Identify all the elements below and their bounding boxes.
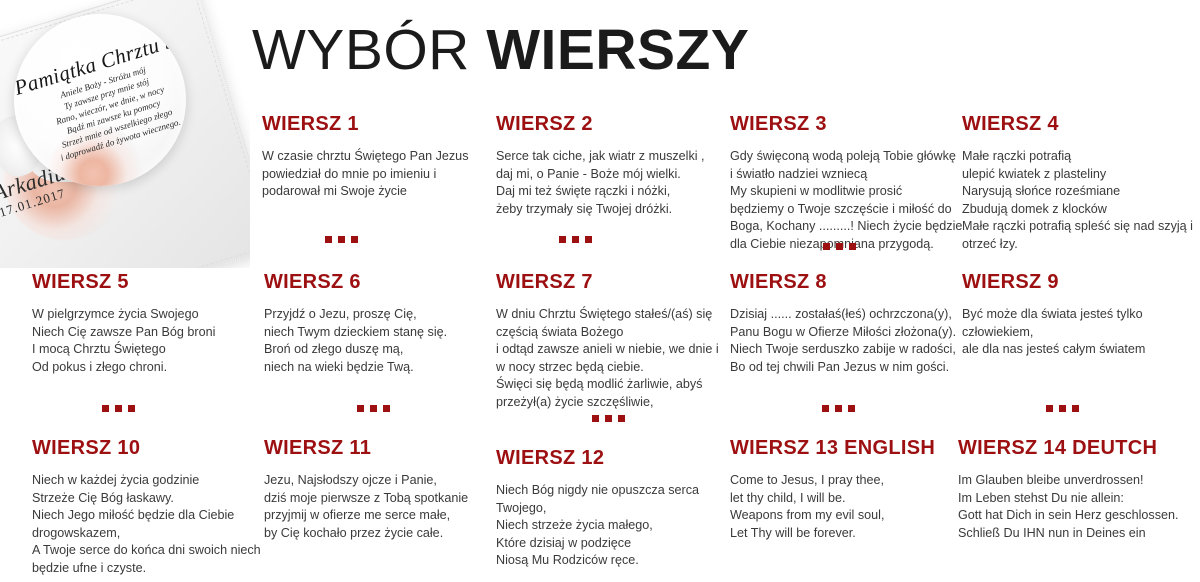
dot-separator — [1046, 405, 1079, 412]
poem-title: WIERSZ 1 — [262, 112, 490, 136]
poem-body: Niech w każdej życia godzinie Strzeże Ci… — [32, 472, 264, 578]
poem-body: W pielgrzymce życia Swojego Niech Cię za… — [32, 306, 260, 376]
poem-title: WIERSZ 14 DEUTCH — [958, 436, 1200, 460]
lens-content: Pamiątka Chrztu Świętego Aniele Boży - S… — [14, 14, 186, 186]
poem-title: WIERSZ 11 — [264, 436, 496, 460]
poem-card-10[interactable]: WIERSZ 10 Niech w każdej życia godzinie … — [32, 436, 264, 578]
poem-body: Gdy święconą wodą poleją Tobie główkę i … — [730, 148, 970, 254]
poem-card-9[interactable]: WIERSZ 9 Być może dla świata jesteś tylk… — [962, 270, 1200, 359]
poem-body: Serce tak ciche, jak wiatr z muszelki , … — [496, 148, 724, 218]
dot-separator — [823, 243, 856, 250]
poem-body: Jezu, Najsłodszy ojcze i Panie, dziś moj… — [264, 472, 496, 542]
poem-title: WIERSZ 2 — [496, 112, 724, 136]
poem-title: WIERSZ 3 — [730, 112, 970, 136]
poem-card-14[interactable]: WIERSZ 14 DEUTCH Im Glauben bleibe unver… — [958, 436, 1200, 542]
poem-card-8[interactable]: WIERSZ 8 Dzisiaj ...... zostałaś(łeś) oc… — [730, 270, 962, 376]
dot-separator — [592, 415, 625, 422]
poem-body: Małe rączki potrafią ulepić kwiatek z pl… — [962, 148, 1200, 254]
poem-body: Come to Jesus, I pray thee, let thy chil… — [730, 472, 962, 542]
poem-card-5[interactable]: WIERSZ 5 W pielgrzymce życia Swojego Nie… — [32, 270, 260, 376]
dot-separator — [102, 405, 135, 412]
poem-body: Być może dla świata jesteś tylko człowie… — [962, 306, 1200, 359]
magnifier-lens-icon: Pamiątka Chrztu Świętego Aniele Boży - S… — [14, 14, 186, 186]
poem-body: Przyjdź o Jezu, proszę Cię, niech Twym d… — [264, 306, 492, 376]
poem-title: WIERSZ 4 — [962, 112, 1200, 136]
poem-selection-page: WYBÓR WIERSZY Arkadiusz 17.01.2017 Pamią… — [0, 0, 1200, 582]
poem-card-4[interactable]: WIERSZ 4 Małe rączki potrafią ulepić kwi… — [962, 112, 1200, 254]
poem-card-13[interactable]: WIERSZ 13 ENGLISH Come to Jesus, I pray … — [730, 436, 962, 542]
poem-body: W dniu Chrztu Świętego stałeś/(aś) się c… — [496, 306, 728, 412]
poem-card-7[interactable]: WIERSZ 7 W dniu Chrztu Świętego stałeś/(… — [496, 270, 728, 412]
poem-title: WIERSZ 10 — [32, 436, 264, 460]
poem-title: WIERSZ 5 — [32, 270, 260, 294]
dot-separator — [822, 405, 855, 412]
poem-card-3[interactable]: WIERSZ 3 Gdy święconą wodą poleją Tobie … — [730, 112, 970, 254]
poem-card-1[interactable]: WIERSZ 1 W czasie chrztu Świętego Pan Je… — [262, 112, 490, 201]
dot-separator — [325, 236, 358, 243]
poem-body: Niech Bóg nigdy nie opuszcza serca Twoje… — [496, 482, 728, 570]
poem-title: WIERSZ 12 — [496, 446, 728, 470]
dot-separator — [559, 236, 592, 243]
poem-body: W czasie chrztu Świętego Pan Jezus powie… — [262, 148, 490, 201]
page-title: WYBÓR WIERSZY — [252, 14, 749, 86]
poem-title: WIERSZ 8 — [730, 270, 962, 294]
poem-body: Dzisiaj ...... zostałaś(łeś) ochrzczona(… — [730, 306, 962, 376]
poem-title: WIERSZ 9 — [962, 270, 1200, 294]
poem-card-6[interactable]: WIERSZ 6 Przyjdź o Jezu, proszę Cię, nie… — [264, 270, 492, 376]
poem-body: Im Glauben bleibe unverdrossen! Im Leben… — [958, 472, 1200, 542]
poem-card-11[interactable]: WIERSZ 11 Jezu, Najsłodszy ojcze i Panie… — [264, 436, 496, 542]
poem-card-12[interactable]: WIERSZ 12 Niech Bóg nigdy nie opuszcza s… — [496, 446, 728, 570]
poem-title: WIERSZ 7 — [496, 270, 728, 294]
poem-title: WIERSZ 13 ENGLISH — [730, 436, 962, 460]
dot-separator — [357, 405, 390, 412]
poem-title: WIERSZ 6 — [264, 270, 492, 294]
page-title-bold: WIERSZY — [486, 18, 749, 82]
page-title-light: WYBÓR — [252, 18, 470, 82]
poem-card-2[interactable]: WIERSZ 2 Serce tak ciche, jak wiatr z mu… — [496, 112, 724, 218]
baptism-keepsake-photo: Arkadiusz 17.01.2017 Pamiątka Chrztu Świ… — [0, 0, 250, 268]
